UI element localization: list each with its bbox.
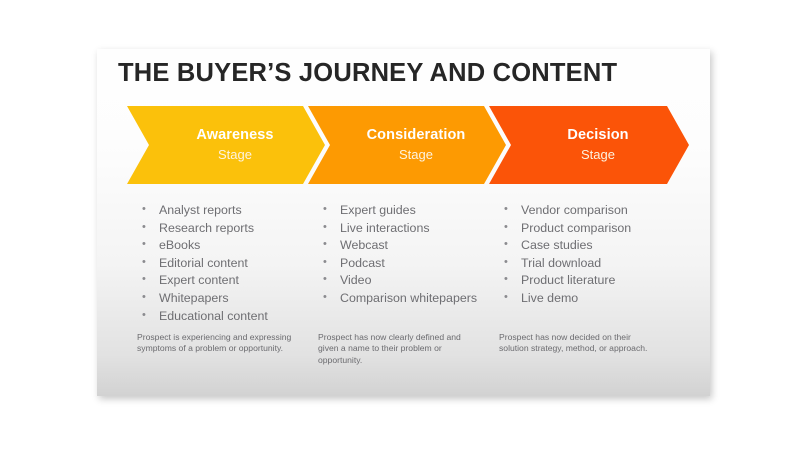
content-column-awareness: Analyst reports Research reports eBooks … (137, 202, 313, 325)
slide-root: THE BUYER’S JOURNEY AND CONTENT Awarenes… (0, 0, 794, 462)
list-item: Expert content (137, 272, 313, 290)
list-item: Product literature (499, 272, 689, 290)
list-item: Video (318, 272, 494, 290)
list-item: Podcast (318, 255, 494, 273)
stage-description-decision: Prospect has now decided on their soluti… (499, 332, 659, 355)
list-item: Analyst reports (137, 202, 313, 220)
stage-sublabel-decision: Stage (581, 148, 615, 162)
content-list-decision: Vendor comparison Product comparison Cas… (499, 202, 689, 308)
page-title: THE BUYER’S JOURNEY AND CONTENT (118, 59, 617, 88)
content-card: THE BUYER’S JOURNEY AND CONTENT Awarenes… (97, 49, 710, 396)
list-item: Research reports (137, 220, 313, 238)
stage-sublabel-awareness: Stage (218, 148, 252, 162)
stage-name-consideration: Consideration (367, 128, 466, 144)
list-item: Comparison whitepapers (318, 290, 494, 308)
list-item: Expert guides (318, 202, 494, 220)
content-column-consideration: Expert guides Live interactions Webcast … (318, 202, 494, 308)
list-item: Vendor comparison (499, 202, 689, 220)
stage-name-awareness: Awareness (196, 128, 273, 144)
stage-chevron-band: Awareness Stage Consideration Stage Deci… (97, 106, 710, 184)
content-list-consideration: Expert guides Live interactions Webcast … (318, 202, 494, 308)
stage-sublabel-consideration: Stage (399, 148, 433, 162)
list-item: Whitepapers (137, 290, 313, 308)
list-item: Product comparison (499, 220, 689, 238)
stage-description-consideration: Prospect has now clearly defined and giv… (318, 332, 478, 366)
stage-description-awareness: Prospect is experiencing and expressing … (137, 332, 297, 355)
content-column-decision: Vendor comparison Product comparison Cas… (499, 202, 689, 308)
content-list-awareness: Analyst reports Research reports eBooks … (137, 202, 313, 325)
stage-chevron-awareness[interactable]: Awareness Stage (127, 106, 325, 184)
stage-chevron-consideration[interactable]: Consideration Stage (308, 106, 506, 184)
stage-name-decision: Decision (567, 128, 628, 144)
list-item: Live interactions (318, 220, 494, 238)
list-item: eBooks (137, 237, 313, 255)
list-item: Case studies (499, 237, 689, 255)
list-item: Trial download (499, 255, 689, 273)
stage-chevron-decision[interactable]: Decision Stage (489, 106, 689, 184)
list-item: Webcast (318, 237, 494, 255)
list-item: Live demo (499, 290, 689, 308)
list-item: Editorial content (137, 255, 313, 273)
list-item: Educational content (137, 308, 313, 326)
